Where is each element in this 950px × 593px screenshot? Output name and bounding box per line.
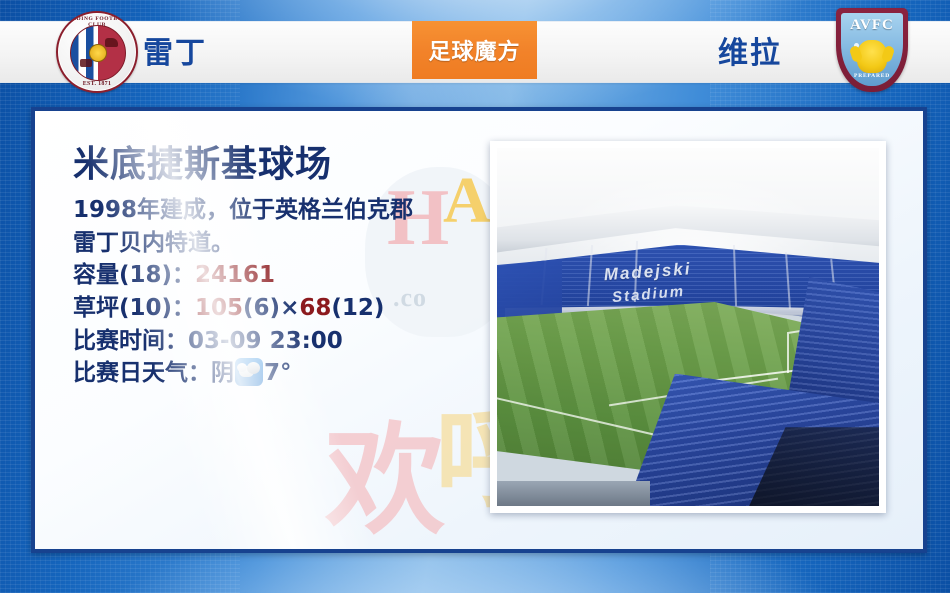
crown-icon [80, 59, 92, 67]
photo-pitch-line [497, 396, 674, 440]
reading-fc-crest[interactable]: READING FOOTBALL CLUB EST. 1871 [56, 11, 138, 93]
stadium-photo-frame[interactable]: Madejski Stadium [490, 141, 886, 513]
page-root: READING FOOTBALL CLUB EST. 1871 雷丁 足球魔方 … [0, 0, 950, 593]
capacity-label: 容量(18)： [73, 262, 195, 288]
weather-label: 比赛日天气： [73, 360, 211, 386]
aston-villa-crest[interactable]: AVFC PREPARED [836, 8, 908, 92]
weather-row: 比赛日天气：阴7° [73, 357, 493, 390]
weather-condition: 阴 [211, 360, 234, 386]
stadium-info-panel: A H .co 呼 欢 米底捷斯基球场 1998年建成，位于英格兰伯克郡 雷丁贝… [31, 107, 927, 553]
stadium-description-line2: 雷丁贝内特道。 [73, 227, 493, 260]
crest-field: AVFC PREPARED [841, 13, 903, 86]
away-team-name: 维拉 [718, 28, 782, 72]
pitch-length-rating: (6) [243, 295, 280, 321]
weather-temperature: 7° [264, 360, 292, 386]
pitch-row: 草坪(10)：105(6)×68(12) [73, 292, 493, 325]
match-time-row: 比赛时间：03-09 23:00 [73, 325, 493, 358]
cloudy-icon [235, 358, 263, 386]
crest-inner-shield [70, 25, 126, 81]
stadium-info-text: 米底捷斯基球场 1998年建成，位于英格兰伯克郡 雷丁贝内特道。 容量(18)：… [73, 147, 493, 390]
watermark-char1: 欢 [325, 383, 445, 553]
pitch-length: 105 [195, 295, 243, 321]
crest-ring-bottom-text: EST. 1871 [58, 81, 136, 87]
madejski-stadium-photo: Madejski Stadium [497, 148, 879, 506]
match-header: READING FOOTBALL CLUB EST. 1871 雷丁 足球魔方 … [0, 0, 950, 100]
stadium-description-line1: 1998年建成，位于英格兰伯克郡 [73, 194, 493, 227]
capacity-value: 24161 [195, 262, 275, 288]
site-logo[interactable]: 足球魔方 [412, 21, 537, 79]
horse-icon [105, 38, 118, 47]
capacity-row: 容量(18)：24161 [73, 259, 493, 292]
lion-icon [857, 40, 887, 73]
match-time-label: 比赛时间： [73, 328, 188, 354]
match-time-value: 03-09 23:00 [188, 328, 343, 354]
crest-initials: AVFC [841, 17, 903, 34]
site-logo-text: 足球魔方 [428, 34, 520, 66]
pitch-separator: × [280, 295, 299, 321]
photo-bottom-strip [497, 481, 650, 506]
crest-motto: PREPARED [841, 73, 903, 79]
pitch-width: 68 [299, 295, 331, 321]
stadium-title: 米底捷斯基球场 [73, 147, 493, 183]
pitch-label: 草坪(10)： [73, 295, 195, 321]
pitch-width-rating: (12) [331, 295, 384, 321]
home-team-name: 雷丁 [143, 28, 207, 72]
